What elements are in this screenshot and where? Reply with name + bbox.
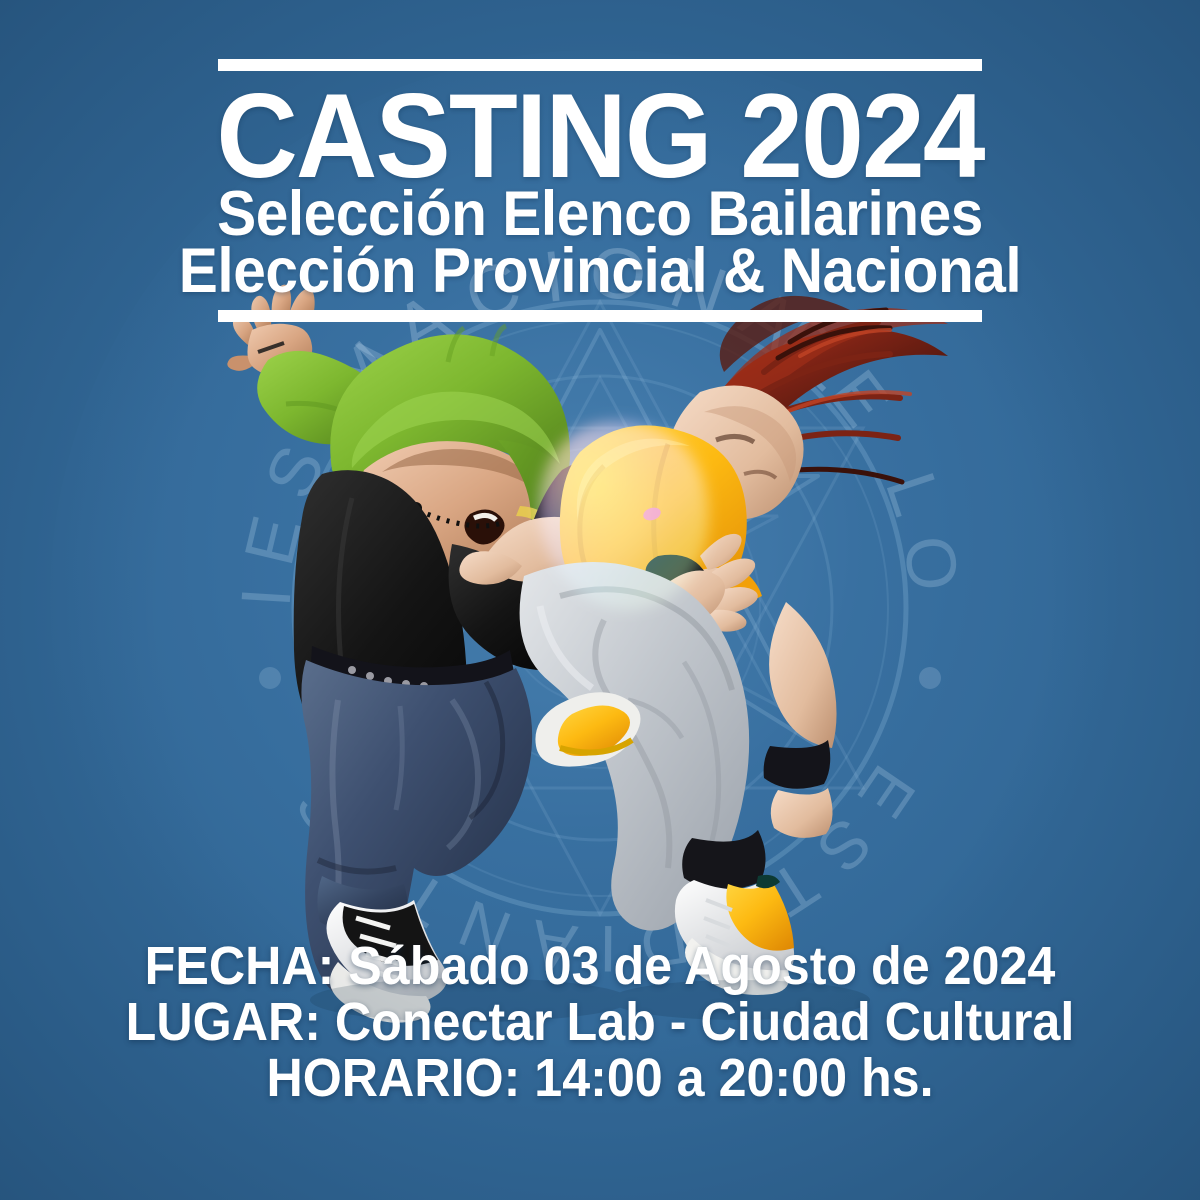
event-date-line: FECHA: Sábado 03 de Agosto de 2024 (42, 938, 1158, 994)
header-rule-bottom (218, 310, 982, 322)
event-place-line: LUGAR: Conectar Lab - Ciudad Cultural (42, 994, 1158, 1050)
poster-title: CASTING 2024 (36, 76, 1164, 196)
event-poster: NACIONAL ESTUDIANTES FIESTA DE LOS (0, 0, 1200, 1200)
poster-subtitle-line-2: Elección Provincial & Nacional (42, 240, 1158, 303)
event-time-line: HORARIO: 14:00 a 20:00 hs. (42, 1050, 1158, 1106)
